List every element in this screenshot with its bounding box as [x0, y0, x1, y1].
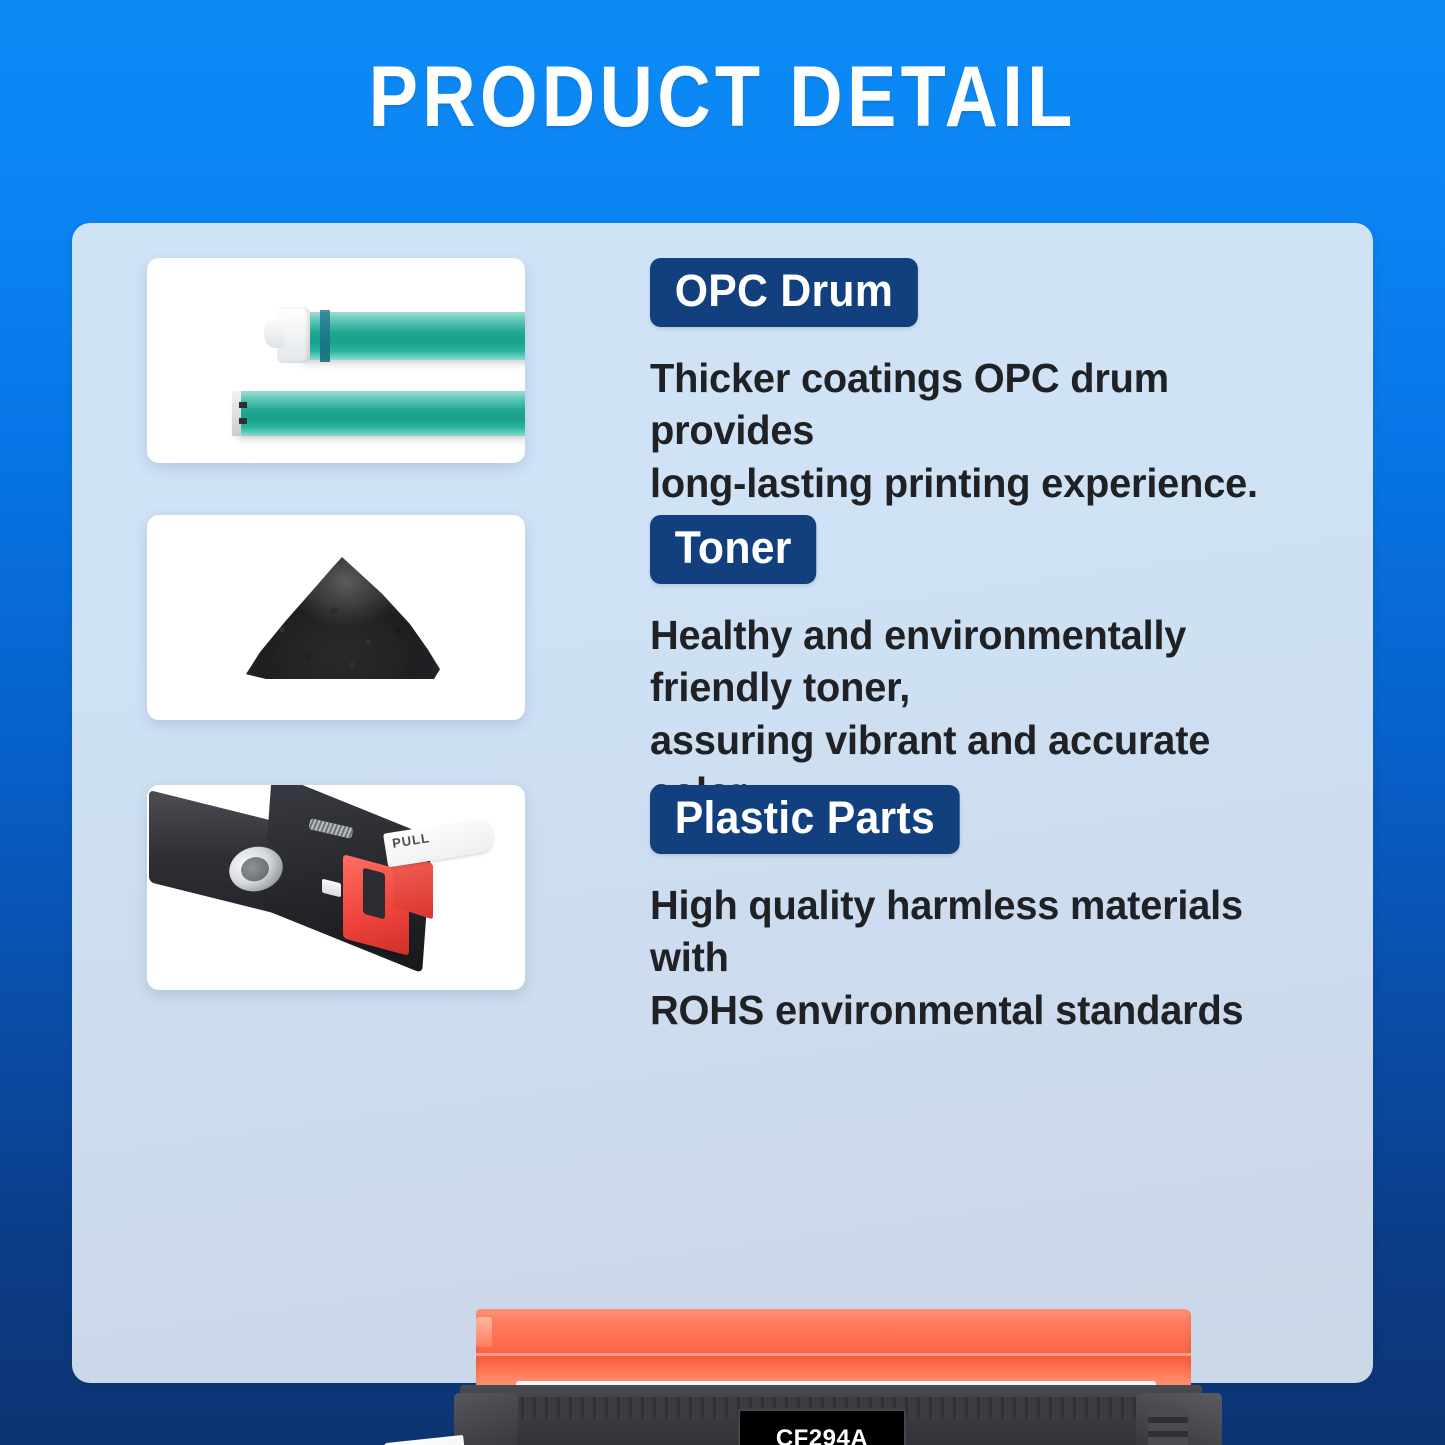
feature-description-plastic-parts: High quality harmless materials with ROH… — [650, 879, 1310, 1036]
feature-badge-plastic-parts: Plastic Parts — [650, 785, 960, 854]
cartridge-model-text: CF294A — [776, 1425, 868, 1445]
page-title: PRODUCT DETAIL — [368, 52, 1076, 142]
feature-badge-toner: Toner — [650, 515, 816, 584]
drum-ring-icon — [320, 310, 330, 362]
feature-text-opc-drum: OPC Drum Thicker coatings OPC drum provi… — [650, 258, 1330, 509]
page-title-container: PRODUCT DETAIL — [0, 52, 1445, 142]
plastic-parts-photo: PULL — [147, 785, 525, 990]
feature-badge-opc-drum: OPC Drum — [650, 258, 918, 327]
cartridge-pull-tab-icon — [384, 1435, 469, 1445]
drum-notch-icon — [239, 402, 247, 408]
drum-endcap-icon — [232, 391, 241, 436]
drum-gear-icon — [277, 307, 310, 363]
cartridge-orange-cover-icon — [476, 1309, 1191, 1389]
cartridge-cover-lip-icon — [476, 1317, 492, 1347]
drum-cylinder-lower-icon — [232, 391, 525, 436]
toner-powder-photo — [147, 515, 525, 720]
cartridge-right-endcap-icon — [1136, 1393, 1222, 1445]
cartridge-left-endcap-icon — [454, 1393, 518, 1445]
content-panel: OPC Drum Thicker coatings OPC drum provi… — [72, 223, 1373, 1383]
feature-text-plastic-parts: Plastic Parts High quality harmless mate… — [650, 785, 1330, 1036]
cartridge-model-label: CF294A — [738, 1409, 906, 1445]
toner-cartridge-photo: CF294A — [368, 1301, 1244, 1445]
feature-description-opc-drum: Thicker coatings OPC drum provides long-… — [650, 352, 1310, 509]
toner-powder-pile-icon — [242, 557, 442, 679]
drum-notch-icon — [239, 418, 247, 424]
feature-text-toner: Toner Healthy and environmentally friend… — [650, 515, 1330, 819]
product-detail-poster: PRODUCT DETAIL OPC Drum Thicker coatings… — [0, 0, 1445, 1445]
opc-drum-photo — [147, 258, 525, 463]
